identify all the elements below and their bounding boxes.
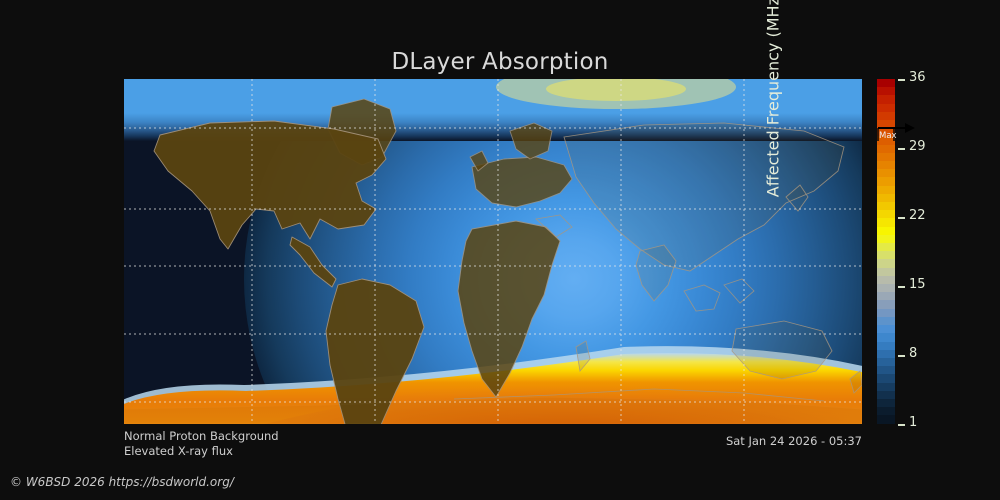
- colorbar-step: [877, 276, 895, 284]
- colorbar-axis-label: Affected Frequency (MHz): [759, 0, 789, 267]
- status-line-proton: Normal Proton Background: [124, 429, 279, 444]
- colorbar-tick-label: 36: [909, 70, 926, 86]
- colorbar-step: [877, 194, 895, 202]
- colorbar-step: [877, 120, 895, 128]
- status-block: Normal Proton Background Elevated X-ray …: [124, 429, 279, 458]
- colorbar-step: [877, 284, 895, 292]
- colorbar-tick-label: 29: [909, 139, 926, 155]
- colorbar-step: [877, 259, 895, 267]
- colorbar-step: [877, 268, 895, 276]
- colorbar-step: [877, 112, 895, 120]
- colorbar-tick-dash: [898, 424, 905, 426]
- colorbar-step: [877, 342, 895, 350]
- colorbar-step: [877, 136, 895, 144]
- colorbar-tick-label: 15: [909, 277, 926, 293]
- colorbar-step: [877, 169, 895, 177]
- status-line-xray: Elevated X-ray flux: [124, 444, 279, 459]
- colorbar-step: [877, 366, 895, 374]
- absorption-map[interactable]: [124, 79, 862, 424]
- colorbar-step: [877, 391, 895, 399]
- colorbar-step: [877, 186, 895, 194]
- colorbar-step: [877, 317, 895, 325]
- colorbar-step: [877, 227, 895, 235]
- map-canvas: [124, 79, 862, 424]
- colorbar-tick-label: 1: [909, 415, 917, 431]
- colorbar-tick-dash: [898, 355, 905, 357]
- colorbar-step: [877, 153, 895, 161]
- colorbar-tick-dash: [898, 286, 905, 288]
- colorbar-gradient: [877, 79, 895, 424]
- colorbar-step: [877, 177, 895, 185]
- colorbar-tick-label: 8: [909, 346, 917, 362]
- colorbar-step: [877, 243, 895, 251]
- colorbar-step: [877, 104, 895, 112]
- colorbar-step: [877, 300, 895, 308]
- colorbar-tick-dash: [898, 217, 905, 219]
- page-title: DLayer Absorption: [0, 48, 1000, 76]
- colorbar-ticks: 3629221581: [895, 79, 955, 424]
- colorbar-step: [877, 309, 895, 317]
- footer-credit: © W6BSD 2026 https://bsdworld.org/: [10, 475, 234, 490]
- colorbar-step: [877, 399, 895, 407]
- dlayer-absorption-app: DLayer Absorption: [0, 0, 1000, 500]
- colorbar-step: [877, 95, 895, 103]
- colorbar-step: [877, 210, 895, 218]
- colorbar-step: [877, 161, 895, 169]
- colorbar-step: [877, 325, 895, 333]
- map-layers: [124, 79, 862, 424]
- colorbar-step: [877, 251, 895, 259]
- colorbar-step: [877, 128, 895, 136]
- colorbar-step: [877, 145, 895, 153]
- colorbar[interactable]: 3629221581: [877, 79, 895, 424]
- colorbar-step: [877, 407, 895, 415]
- colorbar-step: [877, 235, 895, 243]
- colorbar-step: [877, 358, 895, 366]
- colorbar-tick-dash: [898, 148, 905, 150]
- colorbar-step: [877, 350, 895, 358]
- colorbar-step: [877, 415, 895, 423]
- colorbar-step: [877, 333, 895, 341]
- colorbar-step: [877, 292, 895, 300]
- colorbar-step: [877, 79, 895, 87]
- colorbar-step: [877, 383, 895, 391]
- colorbar-step: [877, 374, 895, 382]
- colorbar-step: [877, 202, 895, 210]
- colorbar-step: [877, 87, 895, 95]
- colorbar-tick-label: 22: [909, 208, 926, 224]
- colorbar-tick-dash: [898, 79, 905, 81]
- timestamp: Sat Jan 24 2026 - 05:37: [726, 434, 862, 449]
- colorbar-step: [877, 218, 895, 226]
